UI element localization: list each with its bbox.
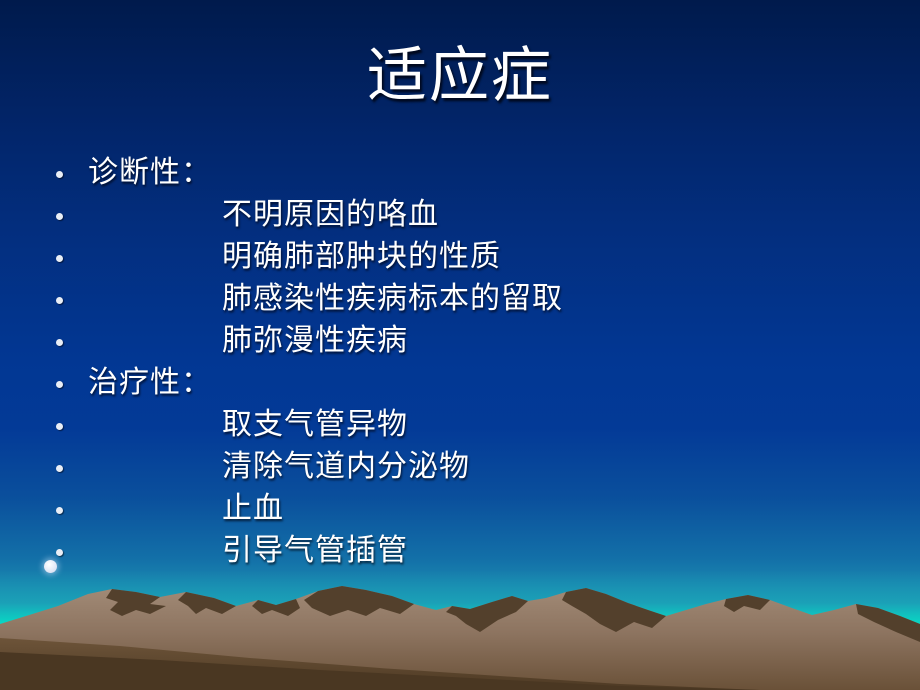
bullet-dot-icon (56, 423, 63, 430)
bullet-row: 清除气道内分泌物 (0, 446, 920, 488)
bullet-dot-icon (56, 297, 63, 304)
bullet-dot-icon (56, 255, 63, 262)
bullet-text: 清除气道内分泌物 (222, 446, 470, 488)
mountain-shadow-right-3 (856, 604, 920, 642)
bullet-row: 肺弥漫性疾病 (0, 320, 920, 362)
bullet-text: 取支气管异物 (222, 404, 408, 446)
bullet-text: 引导气管插管 (222, 530, 408, 572)
bullet-text: 肺感染性疾病标本的留取 (222, 278, 563, 320)
bullet-text: 止血 (222, 488, 284, 530)
bullet-row: 不明原因的咯血 (0, 194, 920, 236)
bullet-row: 明确肺部肿块的性质 (0, 236, 920, 278)
bullet-dot-icon (56, 507, 63, 514)
bullet-row: 诊断性： (0, 152, 920, 194)
bullet-dot-icon (56, 339, 63, 346)
bullet-dot-icon (56, 171, 63, 178)
bullet-row: 肺感染性疾病标本的留取 (0, 278, 920, 320)
bullet-text: 明确肺部肿块的性质 (222, 236, 501, 278)
mountain-shadow-right (562, 588, 666, 632)
bullet-row: 取支气管异物 (0, 404, 920, 446)
bullet-dot-icon (56, 213, 63, 220)
bullet-text: 治疗性： (88, 362, 212, 404)
mountain-shadow-right-2 (724, 595, 770, 612)
bullet-dot-icon (56, 549, 63, 556)
bullet-text: 肺弥漫性疾病 (222, 320, 408, 362)
bullet-row: 治疗性： (0, 362, 920, 404)
mountain-shadow-left-2 (178, 592, 236, 614)
mountain-ridge-light (0, 586, 920, 690)
bullet-text: 诊断性： (88, 152, 212, 194)
mountain-shadow-center (304, 586, 414, 616)
bullet-row: 引导气管插管 (0, 530, 920, 572)
bullet-row: 止血 (0, 488, 920, 530)
bullet-text: 不明原因的咯血 (222, 194, 439, 236)
bullet-dot-icon (56, 381, 63, 388)
mountain-shadow-center-2 (446, 596, 528, 632)
bullet-list: 诊断性：不明原因的咯血明确肺部肿块的性质肺感染性疾病标本的留取肺弥漫性疾病治疗性… (0, 152, 920, 572)
bullet-dot-icon (56, 465, 63, 472)
mountain-foreground-slope (0, 638, 920, 690)
mountain-range-graphic (0, 580, 920, 690)
mountain-foreground-shadow (0, 652, 760, 690)
mountain-shadow-left-3 (252, 599, 300, 616)
slide-title: 适应症 (0, 40, 920, 112)
mountain-shadow-left (106, 589, 166, 616)
slide-canvas: 适应症 诊断性：不明原因的咯血明确肺部肿块的性质肺感染性疾病标本的留取肺弥漫性疾… (0, 0, 920, 690)
